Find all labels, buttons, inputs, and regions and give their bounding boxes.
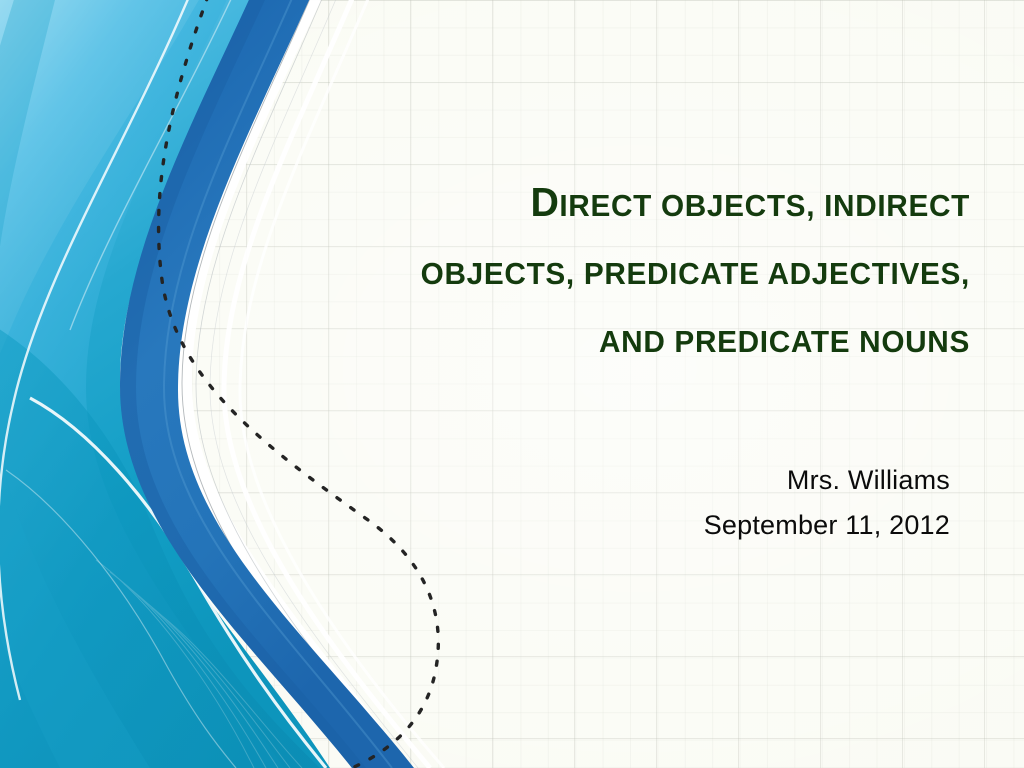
title-slide: Direct objects, indirect objects, predic… xyxy=(0,0,1024,768)
slide-content: Direct objects, indirect objects, predic… xyxy=(300,0,1024,768)
title-line-3: and predicate nouns xyxy=(336,308,970,376)
title-line-2-text: objects, predicate adjectives, xyxy=(421,256,970,291)
title-line-1-text: irect objects, indirect xyxy=(559,188,970,223)
subtitle-presenter: Mrs. Williams xyxy=(330,458,950,503)
title-line-3-text: and predicate nouns xyxy=(599,324,970,359)
title-line-1: Direct objects, indirect xyxy=(336,168,970,240)
subtitle-date: September 11, 2012 xyxy=(330,503,950,548)
slide-subtitle: Mrs. Williams September 11, 2012 xyxy=(330,458,950,548)
title-line-2: objects, predicate adjectives, xyxy=(336,240,970,308)
title-drop-cap: D xyxy=(531,179,560,225)
slide-title: Direct objects, indirect objects, predic… xyxy=(310,168,970,376)
